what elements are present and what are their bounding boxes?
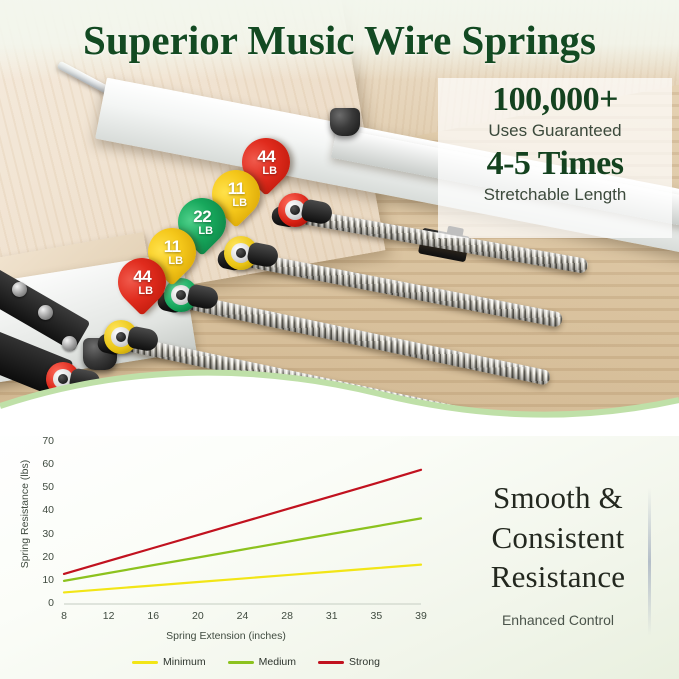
wave-divider <box>0 360 679 436</box>
y-tick-label: 30 <box>28 528 54 540</box>
resistance-chart: Spring Resistance (lbs) Spring Extension… <box>6 424 438 679</box>
feature-line-1: Smooth & <box>452 478 664 518</box>
weight-tag-value: 11 <box>225 180 247 197</box>
weight-tag-content: 22 LB <box>191 208 213 237</box>
stats-callout: 100,000+ Uses Guaranteed 4-5 Times Stret… <box>438 78 672 238</box>
x-tick-label: 12 <box>96 610 122 622</box>
weight-tag-value: 11 <box>161 238 183 255</box>
anchor-pin <box>290 205 300 215</box>
x-tick-label: 35 <box>363 610 389 622</box>
spring-anchor <box>104 320 144 360</box>
anchor-pin <box>176 290 186 300</box>
x-axis-title: Spring Extension (inches) <box>46 630 406 642</box>
y-tick-label: 10 <box>28 574 54 586</box>
legend-label: Minimum <box>163 656 206 668</box>
legend-swatch-icon <box>318 661 344 664</box>
stretch-stat-caption: Stretchable Length <box>438 184 672 205</box>
weight-tag-unit: LB <box>138 286 153 297</box>
spring-anchor <box>278 193 318 233</box>
weight-tag-content: 44 LB <box>255 148 277 177</box>
bolt <box>62 336 77 351</box>
feature-text-block: Smooth & Consistent Resistance Enhanced … <box>452 478 664 628</box>
uses-stat-caption: Uses Guaranteed <box>438 120 672 141</box>
series-line-minimum <box>64 565 421 593</box>
legend-label: Medium <box>259 656 296 668</box>
y-tick-label: 70 <box>28 435 54 447</box>
feature-line-2: Consistent <box>452 518 664 558</box>
anchor-pin <box>116 332 126 342</box>
weight-tag-value: 44 <box>255 148 277 165</box>
uses-stat-value: 100,000+ <box>438 82 672 119</box>
y-tick-label: 50 <box>28 481 54 493</box>
legend-swatch-icon <box>132 661 158 664</box>
weight-tag-content: 44 LB <box>131 268 153 297</box>
x-tick-label: 24 <box>230 610 256 622</box>
feature-subtitle: Enhanced Control <box>452 612 664 628</box>
x-tick-label: 20 <box>185 610 211 622</box>
stretch-stat-value: 4-5 Times <box>438 146 672 183</box>
weight-tag-unit: LB <box>232 198 247 209</box>
x-tick-label: 28 <box>274 610 300 622</box>
chart-legend: MinimumMediumStrong <box>106 656 406 668</box>
rubber-foot <box>330 108 360 136</box>
bolt <box>38 305 53 320</box>
legend-item-minimum[interactable]: Minimum <box>132 656 206 668</box>
x-tick-label: 31 <box>319 610 345 622</box>
y-tick-label: 20 <box>28 551 54 563</box>
x-tick-label: 39 <box>408 610 434 622</box>
weight-tag-value: 44 <box>131 268 153 285</box>
weight-tag-unit: LB <box>262 166 277 177</box>
series-line-medium <box>64 518 421 580</box>
spring-anchor <box>224 236 264 276</box>
feature-line-3: Resistance <box>452 557 664 597</box>
legend-label: Strong <box>349 656 380 668</box>
y-tick-label: 0 <box>28 597 54 609</box>
weight-tag-content: 11 LB <box>161 238 183 267</box>
legend-item-medium[interactable]: Medium <box>228 656 296 668</box>
vertical-divider <box>648 488 651 636</box>
x-tick-label: 16 <box>140 610 166 622</box>
page-title: Superior Music Wire Springs <box>0 16 679 64</box>
x-tick-label: 8 <box>51 610 77 622</box>
bolt <box>12 282 27 297</box>
anchor-pin <box>236 248 246 258</box>
infographic-page: 44 LB 11 LB 22 LB 11 LB 44 LB <box>0 0 679 679</box>
legend-item-strong[interactable]: Strong <box>318 656 380 668</box>
chart-plot <box>6 424 438 634</box>
weight-tag-unit: LB <box>168 256 183 267</box>
y-tick-label: 40 <box>28 504 54 516</box>
weight-tag-value: 22 <box>191 208 213 225</box>
series-line-strong <box>64 470 421 574</box>
weight-tag-content: 11 LB <box>225 180 247 209</box>
weight-tag-unit: LB <box>198 226 213 237</box>
legend-swatch-icon <box>228 661 254 664</box>
y-tick-label: 60 <box>28 458 54 470</box>
